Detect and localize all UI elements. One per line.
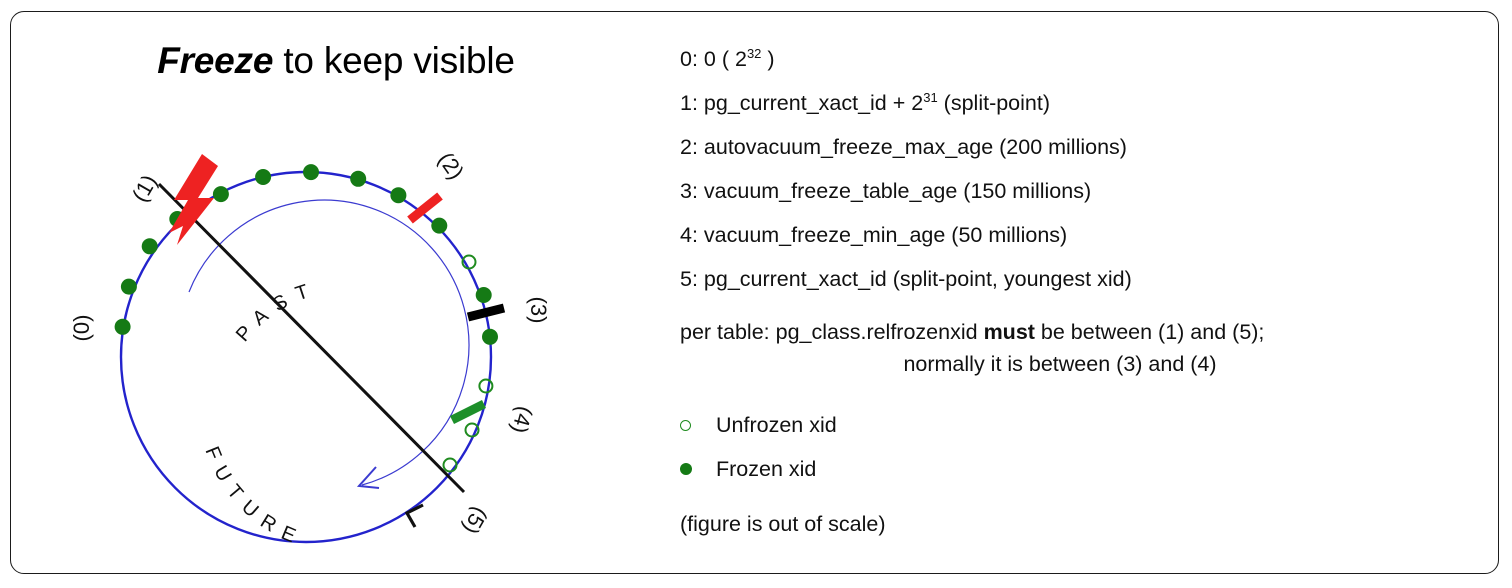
legend-item-frozen: Frozen xid [680, 456, 816, 482]
legend-unfrozen-label: Unfrozen xid [716, 413, 837, 437]
unfrozen-dot [444, 459, 457, 472]
note-1-pre: 1: pg_current_xact_id + 2 [680, 91, 923, 115]
per-table-post: be between (1) and (5); [1035, 320, 1264, 344]
per-table-emphasis: must [984, 320, 1035, 344]
title-rest: to keep visible [273, 40, 515, 81]
scale-disclaimer: (figure is out of scale) [680, 512, 886, 537]
diagram-panel: Freeze to keep visible PAST FUTURE [11, 12, 661, 573]
note-0-exponent: 32 [747, 46, 761, 61]
frozen-dot [213, 186, 229, 202]
past-span-arc [189, 200, 469, 485]
legend-item-unfrozen: Unfrozen xid [680, 412, 837, 438]
split-point-line [159, 184, 464, 492]
lightning-bolt-icon [169, 154, 218, 245]
page-title: Freeze to keep visible [11, 40, 661, 82]
title-keyword: Freeze [157, 40, 273, 81]
unfrozen-dot [479, 380, 492, 393]
frozen-xid-swatch-icon [680, 463, 692, 475]
note-1-post: (split-point) [938, 91, 1050, 115]
marker-label-0: (0) [71, 315, 94, 342]
marker-label-2: (2) [433, 148, 469, 184]
frozen-dot [482, 329, 498, 345]
per-table-pre: per table: pg_class.relfrozenxid [680, 320, 984, 344]
frozen-dot [350, 171, 366, 187]
note-0-pre: 0: 0 ( 2 [680, 47, 747, 71]
note-line-2: 2: autovacuum_freeze_max_age (200 millio… [680, 134, 1127, 160]
note-1-exponent: 31 [923, 90, 937, 105]
marker-label-5: (5) [458, 503, 493, 539]
note-0-post: ) [761, 47, 774, 71]
frozen-dot [476, 287, 492, 303]
notes-panel: 0: 0 ( 232 ) 1: pg_current_xact_id + 231… [674, 12, 1484, 573]
xid-wheel-diagram: PAST FUTURE [71, 132, 591, 562]
frozen-dot [390, 187, 406, 203]
note-line-1: 1: pg_current_xact_id + 231 (split-point… [680, 90, 1050, 116]
per-table-line-2: normally it is between (3) and (4) [680, 351, 1440, 377]
note-line-0: 0: 0 ( 232 ) [680, 46, 775, 72]
marker-label-3: (3) [526, 297, 551, 324]
frozen-dot [115, 319, 131, 335]
legend-frozen-label: Frozen xid [716, 457, 816, 481]
wheel-direction-arrow-icon [407, 505, 423, 527]
unfrozen-xid-swatch-icon [680, 420, 691, 431]
note-line-5: 5: pg_current_xact_id (split-point, youn… [680, 266, 1132, 292]
frozen-dot [431, 218, 447, 234]
note-line-3: 3: vacuum_freeze_table_age (150 millions… [680, 178, 1091, 204]
marker-label-1: (1) [127, 170, 162, 206]
frozen-dot [303, 164, 319, 180]
frozen-dot [121, 279, 137, 295]
frozen-dot [142, 238, 158, 254]
marker-tick-3 [468, 308, 504, 317]
per-table-line-1: per table: pg_class.relfrozenxid must be… [680, 319, 1264, 345]
marker-label-4: (4) [507, 404, 538, 436]
note-line-4: 4: vacuum_freeze_min_age (50 millions) [680, 222, 1067, 248]
marker-tick-4 [452, 404, 484, 420]
figure-card: Freeze to keep visible PAST FUTURE [10, 11, 1499, 574]
frozen-xid-dots [115, 164, 498, 345]
frozen-dot [255, 169, 271, 185]
